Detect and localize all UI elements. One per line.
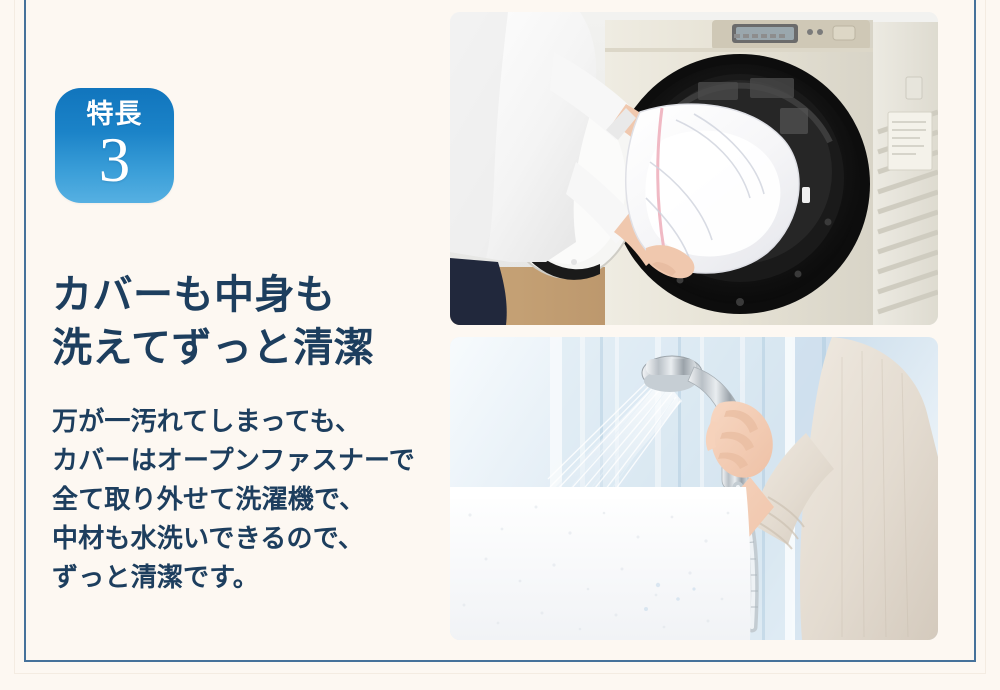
body-description: 万が一汚れてしまっても、 カバーはオープンファスナーで 全て取り外せて洗濯機で、…	[52, 402, 452, 597]
text-column: 特長 3 カバーも中身も 洗えてずっと清潔 万が一汚れてしまっても、 カバーはオ…	[52, 0, 442, 690]
washing-machine-photo	[450, 12, 938, 325]
badge-number: 3	[99, 131, 131, 191]
page-title: カバーも中身も 洗えてずっと清潔	[52, 269, 442, 375]
body-line-2: カバーはオープンファスナーで	[52, 441, 452, 480]
badge-label: 特長	[87, 101, 143, 128]
body-line-5: ずっと清潔です。	[52, 558, 452, 597]
shower-rinse-photo	[450, 337, 938, 640]
body-line-3: 全て取り外せて洗濯機で、	[52, 480, 452, 519]
headline-line-1: カバーも中身も	[52, 269, 442, 322]
feature-section: 特長 3 カバーも中身も 洗えてずっと清潔 万が一汚れてしまっても、 カバーはオ…	[0, 0, 1000, 690]
body-line-4: 中材も水洗いできるので、	[52, 519, 452, 558]
headline-line-2: 洗えてずっと清潔	[52, 322, 442, 375]
body-line-1: 万が一汚れてしまっても、	[52, 402, 452, 441]
feature-number-badge: 特長 3	[55, 88, 174, 203]
